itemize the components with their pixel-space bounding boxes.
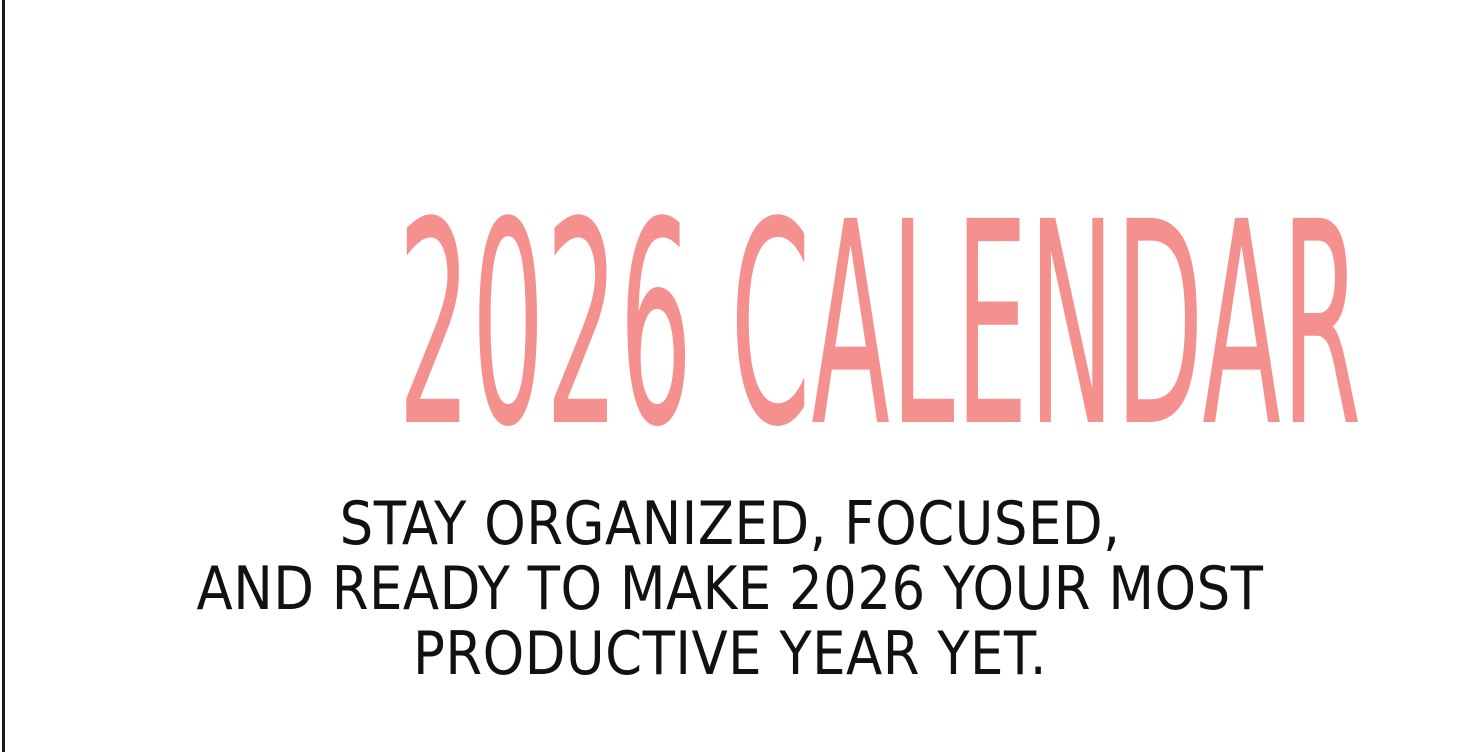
subtitle-line-2: AND READY TO MAKE 2026 YOUR MOST — [15, 557, 1446, 622]
subtitle-line-1: STAY ORGANIZED, FOCUSED, — [15, 492, 1446, 557]
subtitle-line-3: PRODUCTIVE YEAR YET. — [15, 622, 1446, 687]
slide-content: 2026 CALENDAR STAY ORGANIZED, FOCUSED, A… — [0, 0, 1460, 752]
subtitle-block: STAY ORGANIZED, FOCUSED, AND READY TO MA… — [0, 492, 1460, 687]
title-slide: 2026 CALENDAR STAY ORGANIZED, FOCUSED, A… — [0, 0, 1460, 752]
page-title: 2026 CALENDAR — [398, 196, 1062, 456]
